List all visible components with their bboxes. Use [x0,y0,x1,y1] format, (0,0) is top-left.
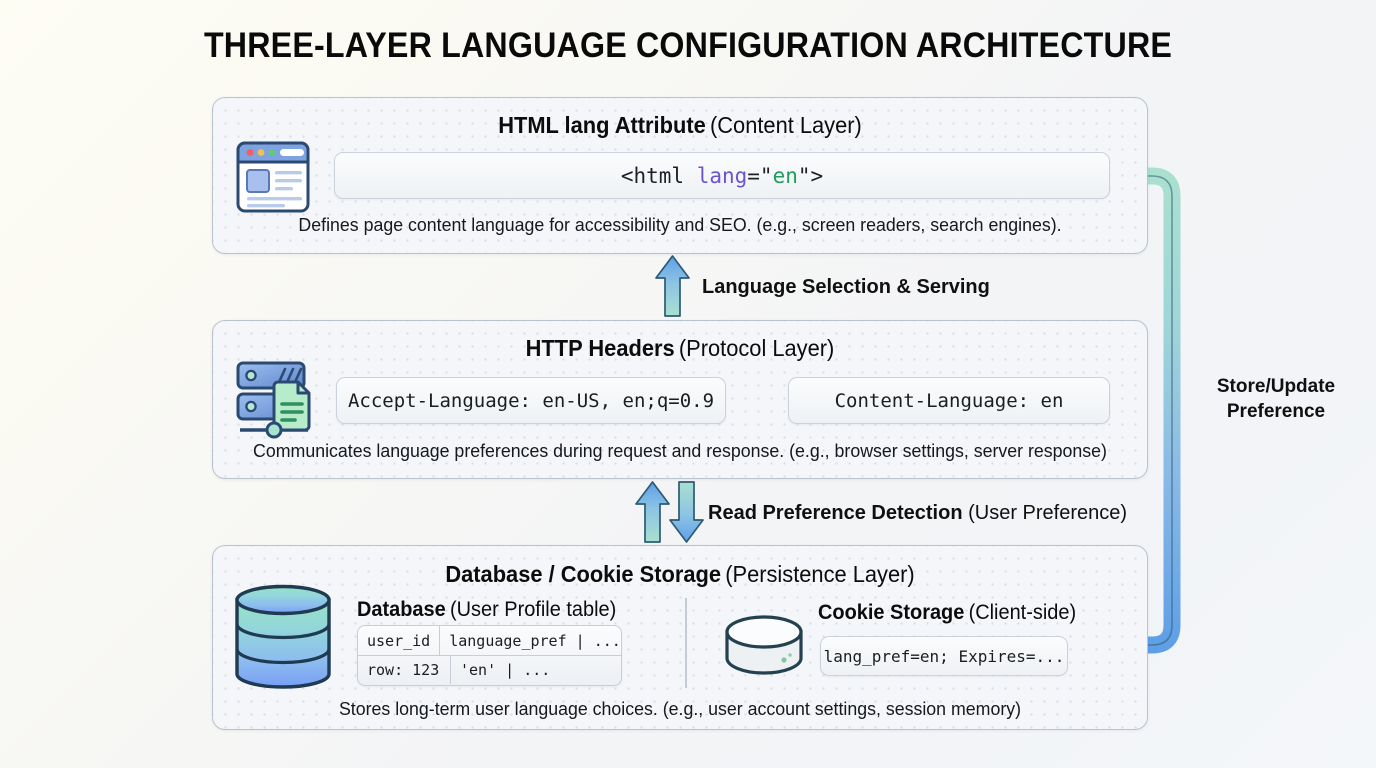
content-layer-heading-regular: (Content Layer) [710,112,862,138]
accept-language-header-text: Accept-Language: en-US, en;q=0.9 [348,390,714,412]
cookie-storage-sublabel-bold: Cookie Storage [818,601,964,624]
persistence-layer-heading-bold: Database / Cookie Storage [445,561,721,587]
database-sublabel-regular: (User Profile table) [450,598,616,621]
flow-label-read-preference-bold: Read Preference Detection [708,502,963,524]
content-language-header-text: Content-Language: en [835,390,1064,412]
code-quote-open: " [760,164,773,188]
cookie-value-box[interactable]: lang_pref=en; Expires=... [820,636,1068,676]
accept-language-header-box[interactable]: Accept-Language: en-US, en;q=0.9 [336,377,726,424]
flow-label-read-preference-regular: (User Preference) [968,502,1127,524]
persistence-layer-description: Stores long-term user language choices. … [231,698,1130,720]
content-layer-heading: HTML lang Attribute (Content Layer) [235,112,1124,139]
persistence-column-divider [685,598,687,688]
table-header-language-pref: language_pref | ... [440,626,622,655]
protocol-layer-heading: HTTP Headers (Protocol Layer) [235,335,1124,362]
database-sublabel: Database (User Profile table) [357,598,616,622]
table-header-user-id: user_id [358,626,440,655]
cookie-storage-sublabel: Cookie Storage (Client-side) [818,601,1076,625]
server-rack-icon [232,358,316,440]
code-value: en [773,164,798,188]
user-profile-table[interactable]: user_id language_pref | ... row: 123 'en… [357,625,622,686]
diagram-canvas: THREE-LAYER LANGUAGE CONFIGURATION ARCHI… [0,0,1376,768]
table-row: row: 123 'en' | ... [358,655,621,684]
code-equals: = [747,164,760,188]
store-update-line1: Store/Update [1188,374,1364,399]
flow-label-store-update-preference: Store/Update Preference [1188,374,1364,424]
html-lang-code-box[interactable]: <html lang="en"> [334,152,1110,199]
protocol-layer-heading-bold: HTTP Headers [526,335,675,361]
table-cell-row-id: row: 123 [358,656,451,684]
content-language-header-box[interactable]: Content-Language: en [788,377,1110,424]
arrow-protocol-to-persistence [670,482,703,542]
code-tag-open: <html [621,164,684,188]
database-sublabel-bold: Database [357,598,446,621]
table-cell-language-value: 'en' | ... [451,656,621,684]
protocol-layer-description: Communicates language preferences during… [231,440,1130,462]
browser-window-icon [235,140,311,214]
code-attr: lang [697,164,748,188]
cookie-disc-icon [722,612,806,680]
arrow-persistence-to-protocol [636,482,669,542]
flow-label-language-selection-text: Language Selection & Serving [702,276,990,298]
protocol-layer-heading-regular: (Protocol Layer) [679,335,834,361]
page-title: THREE-LAYER LANGUAGE CONFIGURATION ARCHI… [55,26,1321,66]
store-update-line2: Preference [1188,399,1364,424]
content-layer-heading-bold: HTML lang Attribute [498,112,706,138]
persistence-layer-heading-regular: (Persistence Layer) [725,561,914,587]
cookie-storage-sublabel-regular: (Client-side) [969,601,1077,624]
database-cylinder-icon [231,582,335,692]
flow-label-read-preference: Read Preference Detection (User Preferen… [708,502,1127,525]
arrow-protocol-to-content [656,256,689,316]
flow-label-language-selection: Language Selection & Serving [702,276,990,299]
cookie-value-text: lang_pref=en; Expires=... [824,647,1065,666]
content-layer-description: Defines page content language for access… [231,214,1130,236]
persistence-layer-heading: Database / Cookie Storage (Persistence L… [235,561,1124,588]
table-header-row: user_id language_pref | ... [358,626,621,655]
code-tag-close: > [811,164,824,188]
code-quote-close: " [798,164,811,188]
